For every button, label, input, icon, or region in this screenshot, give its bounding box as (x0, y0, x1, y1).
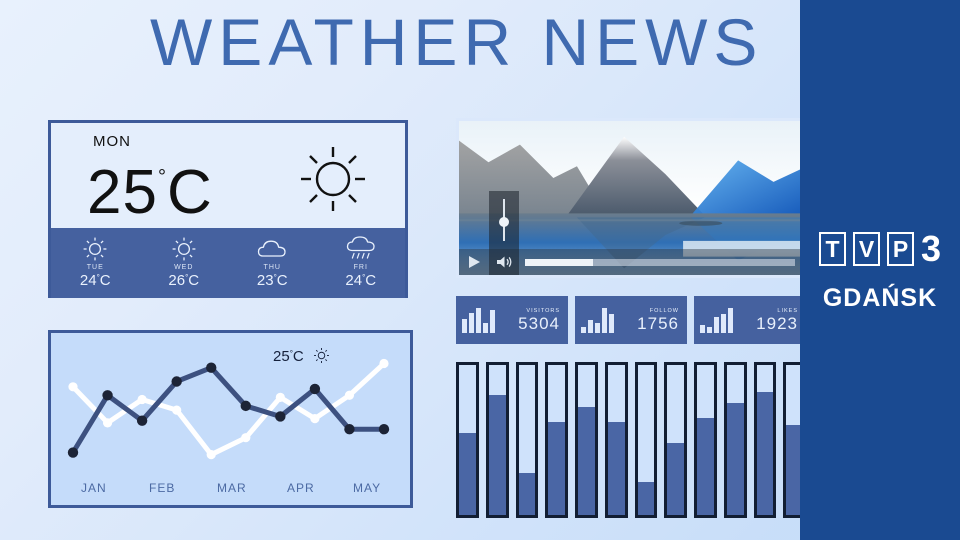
vertical-bar-fill (489, 395, 506, 515)
forecast-day: WED 26°C (140, 228, 229, 298)
vertical-bar-fill (459, 433, 476, 516)
forecast-day-temp: 23°C (257, 272, 288, 289)
mini-bar (707, 327, 712, 333)
mini-bar (581, 327, 586, 334)
mini-bar (700, 325, 705, 333)
brand-city-label: GDAŃSK (800, 284, 960, 313)
stat-value: 1756 (629, 315, 679, 333)
volume-slider[interactable] (489, 191, 519, 249)
forecast-day-label: TUE (87, 264, 104, 271)
current-weather-top: MON 25°C (51, 123, 405, 228)
data-point (207, 450, 216, 459)
vertical-bar-fill (757, 392, 774, 515)
forecast-day-temp: 24°C (80, 272, 111, 289)
vertical-bar-fill (578, 407, 595, 515)
mini-bar-chart (462, 307, 510, 333)
vertical-bar (664, 362, 687, 518)
line-chart-svg (51, 333, 410, 505)
mini-bar (595, 323, 600, 333)
sun-icon (171, 237, 197, 261)
stat-text: VISITORS 5304 (510, 308, 562, 333)
forecast-day-temp: 26°C (168, 272, 199, 289)
brand-panel: T V P 3 GDAŃSK (800, 0, 960, 540)
forecast-day-label: WED (174, 264, 193, 271)
logo-letter-p: P (887, 232, 914, 266)
data-point (68, 382, 77, 391)
vertical-bar (545, 362, 568, 518)
data-point (206, 363, 216, 373)
data-point (379, 424, 389, 434)
data-point (138, 395, 147, 404)
logo-letter-v: V (853, 232, 880, 266)
stat-value: 5304 (510, 315, 560, 333)
data-point (68, 447, 78, 457)
mini-bar-chart (700, 307, 748, 333)
stat-value: 1923 (748, 315, 798, 333)
data-point (137, 416, 147, 426)
stat-text: FOLLOW 1756 (629, 308, 681, 333)
mini-bar (483, 323, 488, 333)
data-point (102, 390, 112, 400)
line-series-white (73, 364, 384, 455)
data-point (276, 393, 285, 402)
volume-icon[interactable] (489, 249, 519, 275)
data-point (344, 424, 354, 434)
video-progress-bar[interactable] (525, 259, 795, 266)
video-player[interactable] (456, 118, 806, 278)
forecast-day-label: FRI (354, 264, 368, 271)
mini-bar (469, 313, 474, 333)
mini-bar (721, 314, 726, 333)
logo-number-3: 3 (921, 232, 941, 266)
sun-icon (82, 237, 108, 261)
data-point (310, 414, 319, 423)
vertical-bar (694, 362, 717, 518)
data-point (379, 359, 388, 368)
vertical-bar (486, 362, 509, 518)
vertical-bar-fill (697, 418, 714, 516)
vertical-bar-fill (667, 443, 684, 515)
current-temperature: 25°C (87, 137, 213, 233)
forecast-strip: TUE 24°C WED 26°C (51, 228, 405, 298)
degree-symbol: ° (158, 166, 167, 188)
x-tick-label: MAR (217, 481, 247, 495)
mini-bar (602, 308, 607, 333)
volume-knob[interactable] (499, 217, 509, 227)
mini-bar (609, 314, 614, 334)
data-point (345, 391, 354, 400)
current-weather-card: MON 25°C (48, 120, 408, 298)
cloud-icon (257, 237, 287, 261)
vertical-bar-fill (608, 422, 625, 515)
stat-cards: VISITORS 5304 FOLLOW 1756 (456, 296, 806, 344)
line-series-navy (73, 368, 384, 453)
chart-temp-badge: 25°C (273, 347, 330, 365)
vertical-bar (635, 362, 658, 518)
stat-card-visitors[interactable]: VISITORS 5304 (456, 296, 568, 344)
forecast-day-temp: 24°C (345, 272, 376, 289)
temperature-line-chart-card: 25°C JAN FEB MAR APR MAY (48, 330, 413, 508)
video-controls[interactable] (459, 249, 803, 275)
stat-card-likes[interactable]: LIKES 1923 (694, 296, 806, 344)
mini-bar (588, 320, 593, 333)
mini-bar-chart (581, 307, 629, 333)
forecast-day: TUE 24°C (51, 228, 140, 298)
forecast-day-label: THU (264, 264, 281, 271)
temp-unit: C (167, 158, 213, 227)
mini-bar (728, 308, 733, 333)
page-title: WEATHER NEWS (150, 2, 890, 82)
data-point (171, 376, 181, 386)
logo-letter-t: T (819, 232, 846, 266)
x-tick-label: MAY (353, 481, 381, 495)
mini-bar (714, 317, 719, 333)
vertical-bar (575, 362, 598, 518)
data-point (241, 401, 251, 411)
tvp-logo: T V P 3 (800, 232, 960, 266)
mini-bar (476, 308, 481, 333)
current-temp-value: 25 (87, 158, 158, 227)
vertical-bar-fill (519, 473, 536, 515)
video-progress-fill (525, 259, 593, 266)
x-tick-label: APR (287, 481, 315, 495)
vertical-bar (754, 362, 777, 518)
vertical-bar-fill (548, 422, 565, 515)
sun-icon (313, 348, 330, 365)
sun-icon (297, 143, 369, 220)
mini-bar (490, 310, 495, 333)
x-tick-label: JAN (81, 481, 107, 495)
rain-cloud-icon (346, 237, 376, 261)
vertical-bar-panel (456, 362, 806, 518)
weather-news-dashboard: WEATHER NEWS MON 25°C (0, 0, 960, 540)
forecast-day: FRI 24°C (317, 228, 406, 298)
data-point (103, 418, 112, 427)
mini-bar (462, 319, 467, 333)
stat-text: LIKES 1923 (748, 308, 800, 333)
data-point (275, 411, 285, 421)
play-icon[interactable] (459, 249, 489, 275)
vertical-bar (456, 362, 479, 518)
vertical-bar (724, 362, 747, 518)
data-point (310, 384, 320, 394)
stat-card-follow[interactable]: FOLLOW 1756 (575, 296, 687, 344)
forecast-day: THU 23°C (228, 228, 317, 298)
vertical-bar (605, 362, 628, 518)
x-tick-label: FEB (149, 481, 175, 495)
data-point (241, 433, 250, 442)
vertical-bar-fill (638, 482, 655, 515)
vertical-bar-fill (727, 403, 744, 516)
vertical-bar (516, 362, 539, 518)
data-point (172, 406, 181, 415)
